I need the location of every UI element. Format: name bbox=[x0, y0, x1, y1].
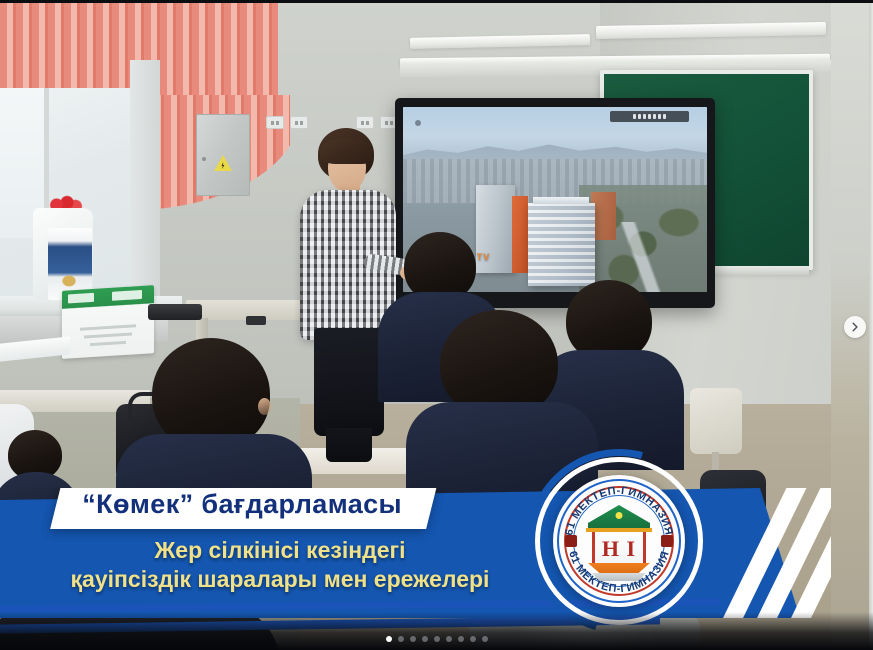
carousel-dot-1[interactable] bbox=[386, 636, 392, 642]
banner-title-plate: “Көмек” бағдарламасы bbox=[50, 488, 437, 529]
banner-subtitle-line-2: қауіпсіздік шаралары мен ережелері bbox=[0, 565, 560, 594]
electrical-panel bbox=[196, 114, 250, 196]
student-ear bbox=[258, 398, 271, 415]
carousel-dot-6[interactable] bbox=[446, 636, 452, 642]
brick-building bbox=[591, 192, 615, 240]
post-carousel-stage: 4I TV bbox=[0, 0, 873, 650]
diagonal-stripes-decoration bbox=[746, 488, 831, 618]
emblem-side-block-left bbox=[565, 535, 577, 547]
top-trim bbox=[0, 0, 873, 3]
carousel-dot-4[interactable] bbox=[422, 636, 428, 642]
hazard-warning-icon bbox=[214, 155, 232, 171]
banner-subtitle-line-1: Жер сілкінісі кезіндегі bbox=[0, 536, 560, 565]
carousel-dot-9[interactable] bbox=[482, 636, 488, 642]
bottom-gradient bbox=[0, 612, 873, 650]
window-frame bbox=[130, 60, 160, 310]
teacher-legs bbox=[326, 428, 372, 462]
teacher bbox=[288, 128, 398, 458]
teacher-fringe bbox=[320, 138, 372, 164]
chevron-right-icon bbox=[850, 322, 860, 332]
teacher-skirt bbox=[314, 328, 384, 436]
emblem-disc: 61 МЕКТЕП-ГИМНАЗИЯ 61 МЕКТЕП-ГИМНАЗИЯ Н … bbox=[553, 475, 685, 607]
wall-socket bbox=[266, 116, 284, 129]
emblem-roof bbox=[588, 505, 650, 530]
carousel-dot-3[interactable] bbox=[410, 636, 416, 642]
carousel-dot-2[interactable] bbox=[398, 636, 404, 642]
video-overlay-badge bbox=[610, 111, 689, 122]
carousel-dot-5[interactable] bbox=[434, 636, 440, 642]
desk-object bbox=[148, 304, 202, 320]
panel-lock bbox=[202, 157, 206, 161]
construction-crane bbox=[512, 196, 527, 274]
emblem-side-block-right bbox=[661, 535, 673, 547]
smartphone bbox=[246, 316, 266, 325]
carousel-dots[interactable] bbox=[0, 636, 873, 642]
carton-label bbox=[80, 324, 140, 350]
banner-title: “Көмек” бағдарламасы bbox=[82, 489, 402, 520]
emblem-monogram: Н І bbox=[586, 532, 652, 566]
carousel-dot-7[interactable] bbox=[458, 636, 464, 642]
emblem-book bbox=[592, 573, 646, 581]
carousel-dot-8[interactable] bbox=[470, 636, 476, 642]
carousel-next-button[interactable] bbox=[844, 316, 866, 338]
emblem-crest: Н І bbox=[586, 505, 652, 579]
chair bbox=[690, 388, 742, 454]
main-highrise bbox=[528, 203, 595, 286]
paper-carton bbox=[62, 285, 154, 359]
school-emblem: 61 МЕКТЕП-ГИМНАЗИЯ 61 МЕКТЕП-ГИМНАЗИЯ Н … bbox=[529, 451, 709, 631]
banner-subtitle: Жер сілкінісі кезіндегі қауіпсіздік шара… bbox=[0, 536, 560, 593]
post-image[interactable]: 4I TV bbox=[0, 0, 831, 650]
slide-divider bbox=[869, 0, 873, 650]
